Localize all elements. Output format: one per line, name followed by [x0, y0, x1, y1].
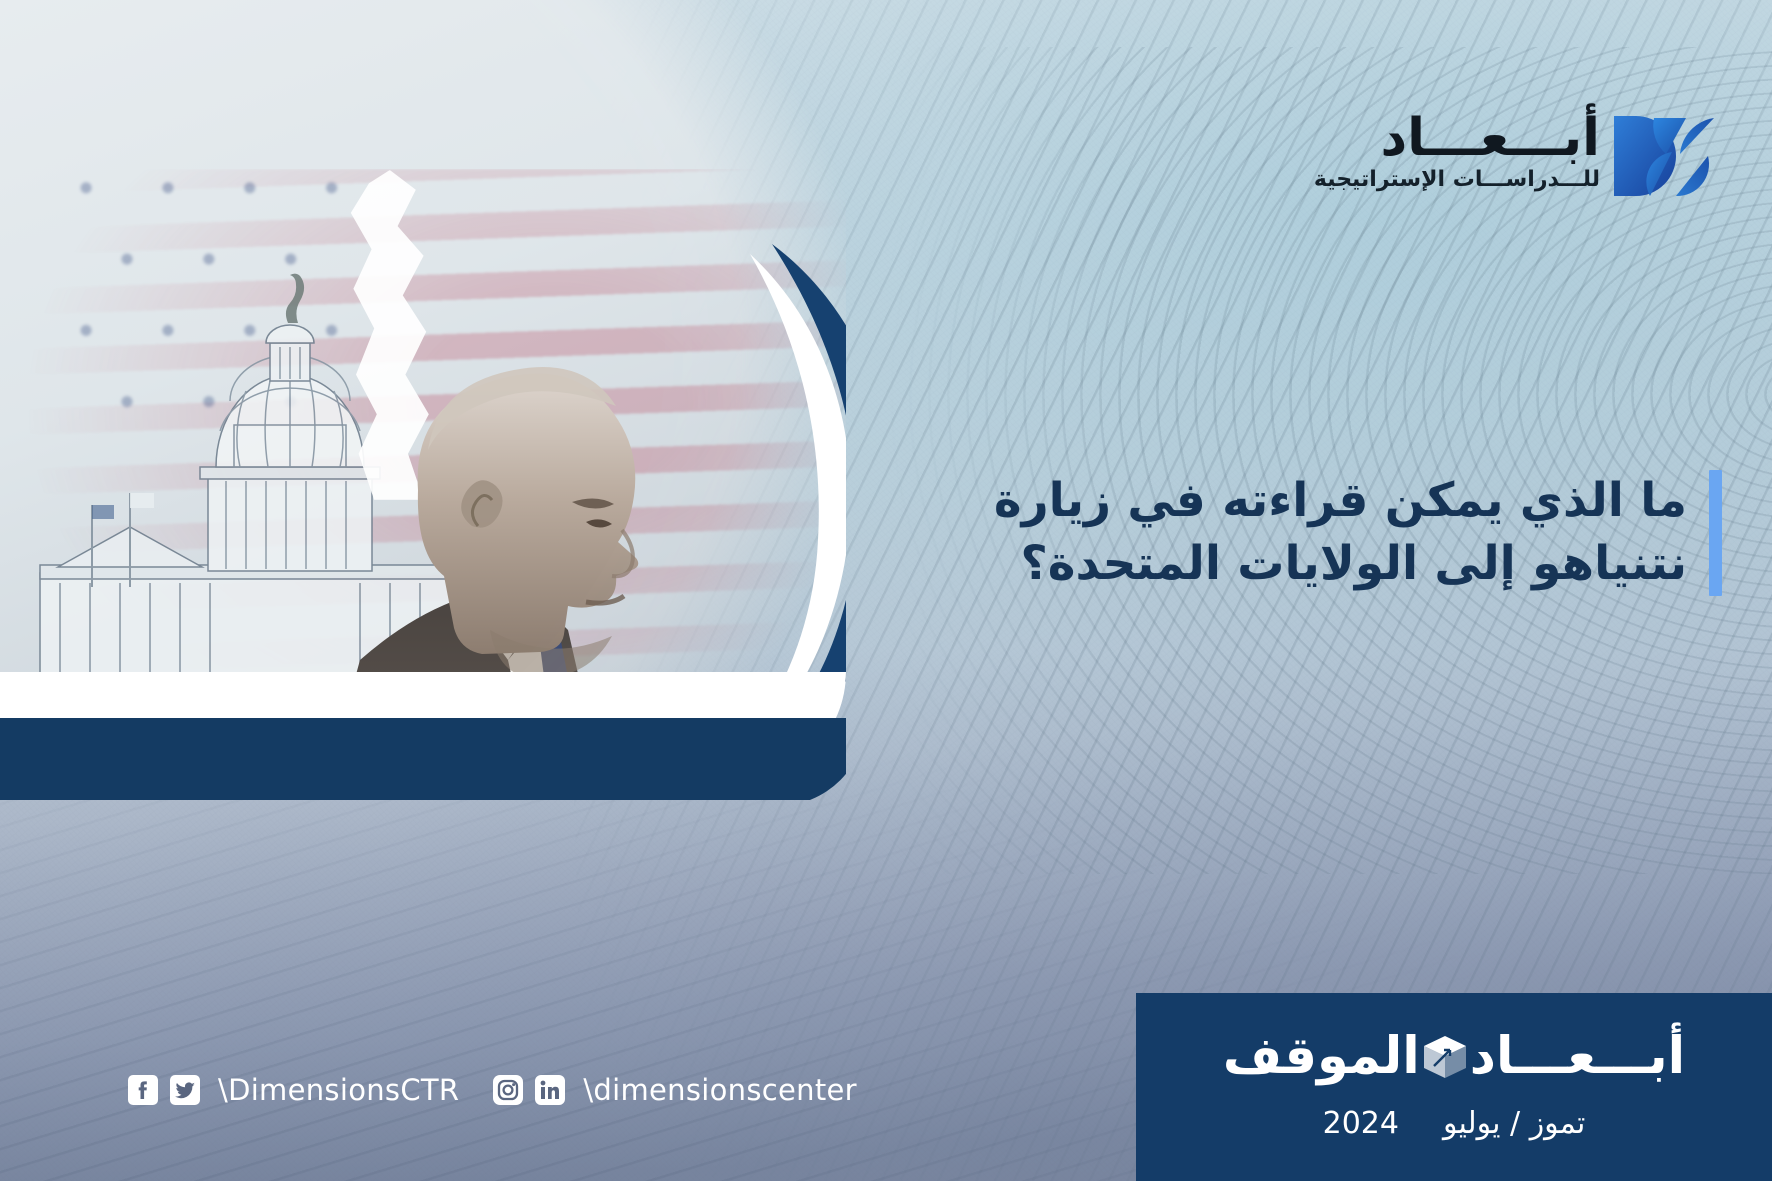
- cube-icon: [1416, 1028, 1474, 1086]
- social-handle-2: \dimensionscenter: [583, 1073, 857, 1107]
- instagram-icon[interactable]: [493, 1075, 523, 1105]
- brand-name: أبـــعـــاد: [1380, 114, 1600, 163]
- headline-line-1: ما الذي يمكن قراءته في زيارة: [994, 470, 1687, 533]
- badge-title-left: الموقف: [1223, 1031, 1420, 1082]
- brand-logo: أبـــعـــاد للـــدراســـات الإستراتيجية: [1314, 108, 1722, 204]
- brand-logo-text: أبـــعـــاد للـــدراســـات الإستراتيجية: [1314, 108, 1600, 192]
- badge-year: 2024: [1323, 1106, 1399, 1141]
- badge-title: أبـــعـــاد الموقف: [1223, 1028, 1685, 1086]
- poster-canvas: أبـــعـــاد للـــدراســـات الإستراتيجية: [0, 0, 1772, 1181]
- hero-navy-band: [0, 718, 846, 800]
- headline-block: ما الذي يمكن قراءته في زيارة نتنياهو إلى…: [994, 470, 1722, 596]
- hero-image-block: [0, 0, 846, 800]
- badge-month: تموز / يوليو: [1443, 1106, 1585, 1141]
- linkedin-icon[interactable]: [535, 1075, 565, 1105]
- twitter-icon[interactable]: [170, 1075, 200, 1105]
- headline-accent-bar: [1709, 470, 1722, 596]
- dss-monogram-icon: [1610, 108, 1722, 204]
- badge-date: تموز / يوليو 2024: [1323, 1106, 1586, 1141]
- brand-subtitle: للـــدراســـات الإستراتيجية: [1314, 167, 1600, 192]
- social-handle-1: \DimensionsCTR: [218, 1073, 459, 1107]
- social-footer: \DimensionsCTR \dimensionscenter: [128, 1073, 879, 1107]
- page-title: ما الذي يمكن قراءته في زيارة نتنياهو إلى…: [994, 470, 1687, 596]
- badge-title-right: أبـــعـــاد: [1470, 1031, 1685, 1082]
- headline-line-2: نتنياهو إلى الولايات المتحدة؟: [994, 533, 1687, 596]
- facebook-icon[interactable]: [128, 1075, 158, 1105]
- series-badge: أبـــعـــاد الموقف تموز / يوليو 2024: [1136, 993, 1772, 1181]
